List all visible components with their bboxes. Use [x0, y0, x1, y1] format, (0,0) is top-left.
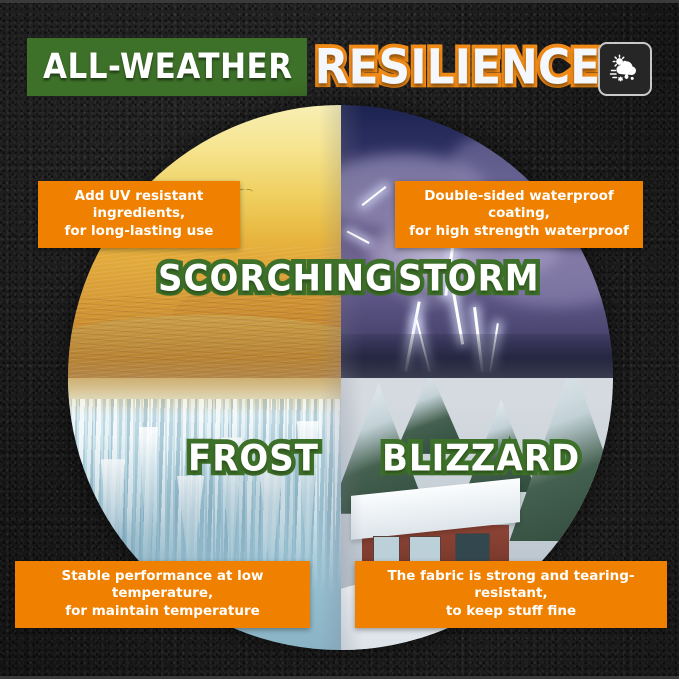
- storm-horizon: [341, 334, 614, 378]
- quadrant-label-frost: FROST: [188, 438, 319, 480]
- title-green-banner: ALL-WEATHER: [27, 38, 307, 96]
- callout-storm-line2: for high strength waterproof: [405, 223, 633, 240]
- title-orange-wordmark: RESILIENCE: [305, 38, 611, 96]
- title-resilience: RESILIENCE: [315, 39, 601, 95]
- top-edge-divider: [0, 0, 679, 3]
- callout-scorching-line1: Add UV resistant ingredients,: [48, 188, 230, 223]
- sand-ripples: [68, 296, 341, 378]
- title-all-weather: ALL-WEATHER: [43, 47, 293, 87]
- all-weather-resilience-poster: ALL-WEATHER RESILIENCE: [0, 0, 679, 679]
- lightning-bolt: [346, 231, 368, 244]
- callout-scorching: Add UV resistant ingredients, for long-l…: [38, 181, 240, 248]
- callout-blizzard-line2: to keep stuff fine: [365, 603, 657, 620]
- weather-badge: [598, 42, 652, 96]
- callout-blizzard: The fabric is strong and tearing-resista…: [355, 561, 667, 628]
- quadrant-label-blizzard: BLIZZARD: [382, 438, 580, 480]
- callout-storm-line1: Double-sided waterproof coating,: [405, 188, 633, 223]
- sun-cloud-rain-snow-icon: [608, 52, 642, 86]
- callout-storm: Double-sided waterproof coating, for hig…: [395, 181, 643, 248]
- callout-frost-line1: Stable performance at low temperature,: [25, 568, 300, 603]
- quadrant-label-storm: STORM: [398, 258, 540, 300]
- callout-frost: Stable performance at low temperature, f…: [15, 561, 310, 628]
- poster-title-bar: ALL-WEATHER RESILIENCE: [27, 38, 652, 96]
- callout-blizzard-line1: The fabric is strong and tearing-resista…: [365, 568, 657, 603]
- callout-frost-line2: for maintain temperature: [25, 603, 300, 620]
- callout-scorching-line2: for long-lasting use: [48, 223, 230, 240]
- quadrant-label-scorching: SCORCHING: [158, 258, 394, 300]
